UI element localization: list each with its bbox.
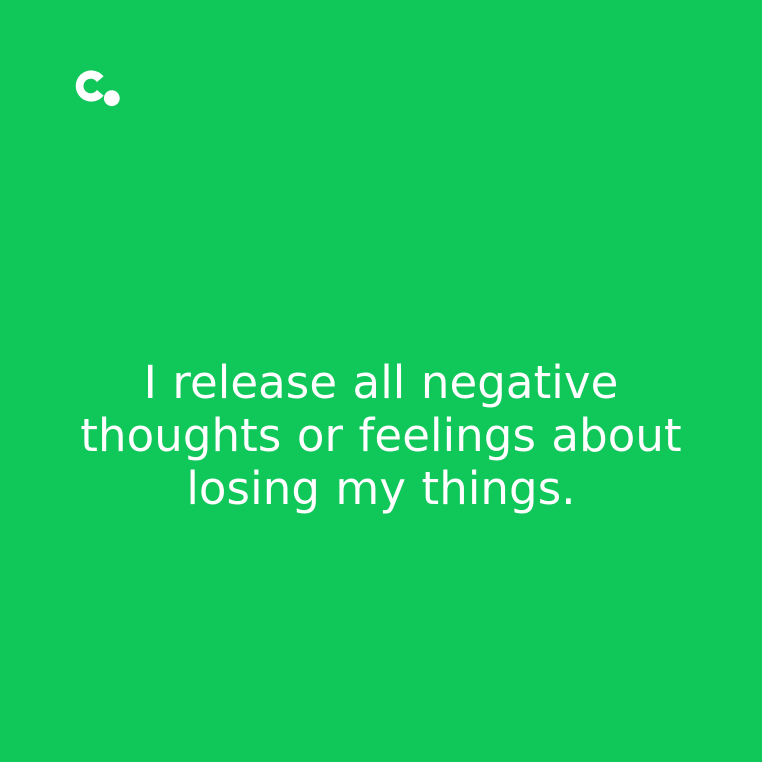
logo-period-dot [104, 90, 120, 106]
logo-c-period-icon [66, 64, 124, 108]
logo-letter-c [76, 70, 104, 101]
affirmation-text: I release all negative thoughts or feeli… [51, 356, 711, 515]
affirmation-card: I release all negative thoughts or feeli… [0, 0, 762, 762]
brand-logo[interactable] [66, 64, 124, 108]
